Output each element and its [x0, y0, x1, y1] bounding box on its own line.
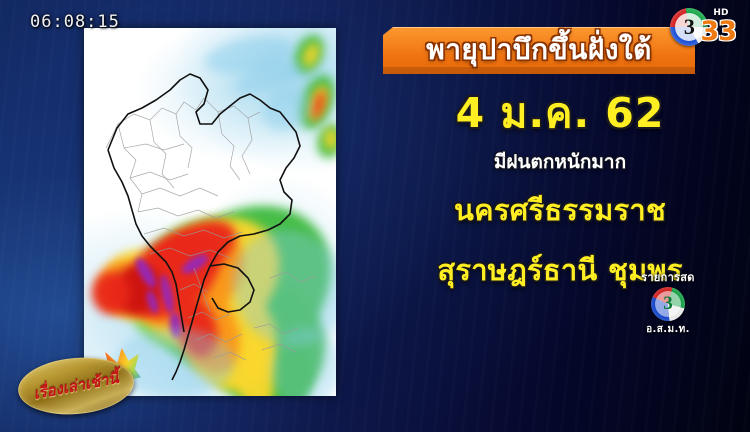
weather-map-panel	[84, 28, 336, 396]
mcot-ball-icon: 3	[651, 287, 685, 321]
timestamp: 06:08:15	[30, 12, 120, 32]
headline-banner: พายุปาบึกขึ้นฝั่งใต้	[383, 27, 695, 74]
channel-3-ball-icon: 3	[670, 8, 708, 46]
weather-radar-map	[84, 28, 336, 396]
channel-number: 3	[670, 8, 708, 46]
map-boundaries	[84, 28, 336, 396]
province-line-1: นครศรีธรรมราช	[375, 187, 745, 233]
live-badge: รายการสด 3 อ.ส.ม.ท.	[622, 268, 714, 337]
programme-logo-plate: เรื่องเล่าเช้านี้	[16, 353, 136, 419]
mcot-ball-number: 3	[651, 287, 685, 321]
programme-logo-text: เรื่องเล่าเช้านี้	[15, 349, 137, 424]
headline-text-column: 4 ม.ค. 62 มีฝนตกหนักมาก นครศรีธรรมราช สุ…	[375, 92, 745, 293]
headline-subtitle: มีฝนตกหนักมาก	[375, 147, 745, 177]
live-label: รายการสด	[622, 268, 714, 286]
broadcast-screen: 06:08:15	[0, 0, 750, 432]
channel-logo: 3 HD 33	[670, 8, 736, 46]
headline-date: 4 ม.ค. 62	[375, 92, 745, 135]
network-label: อ.ส.ม.ท.	[622, 322, 714, 337]
headline-banner-text: พายุปาบึกขึ้นฝั่งใต้	[383, 28, 695, 72]
programme-logo: เรื่องเล่าเช้านี้	[12, 348, 138, 422]
